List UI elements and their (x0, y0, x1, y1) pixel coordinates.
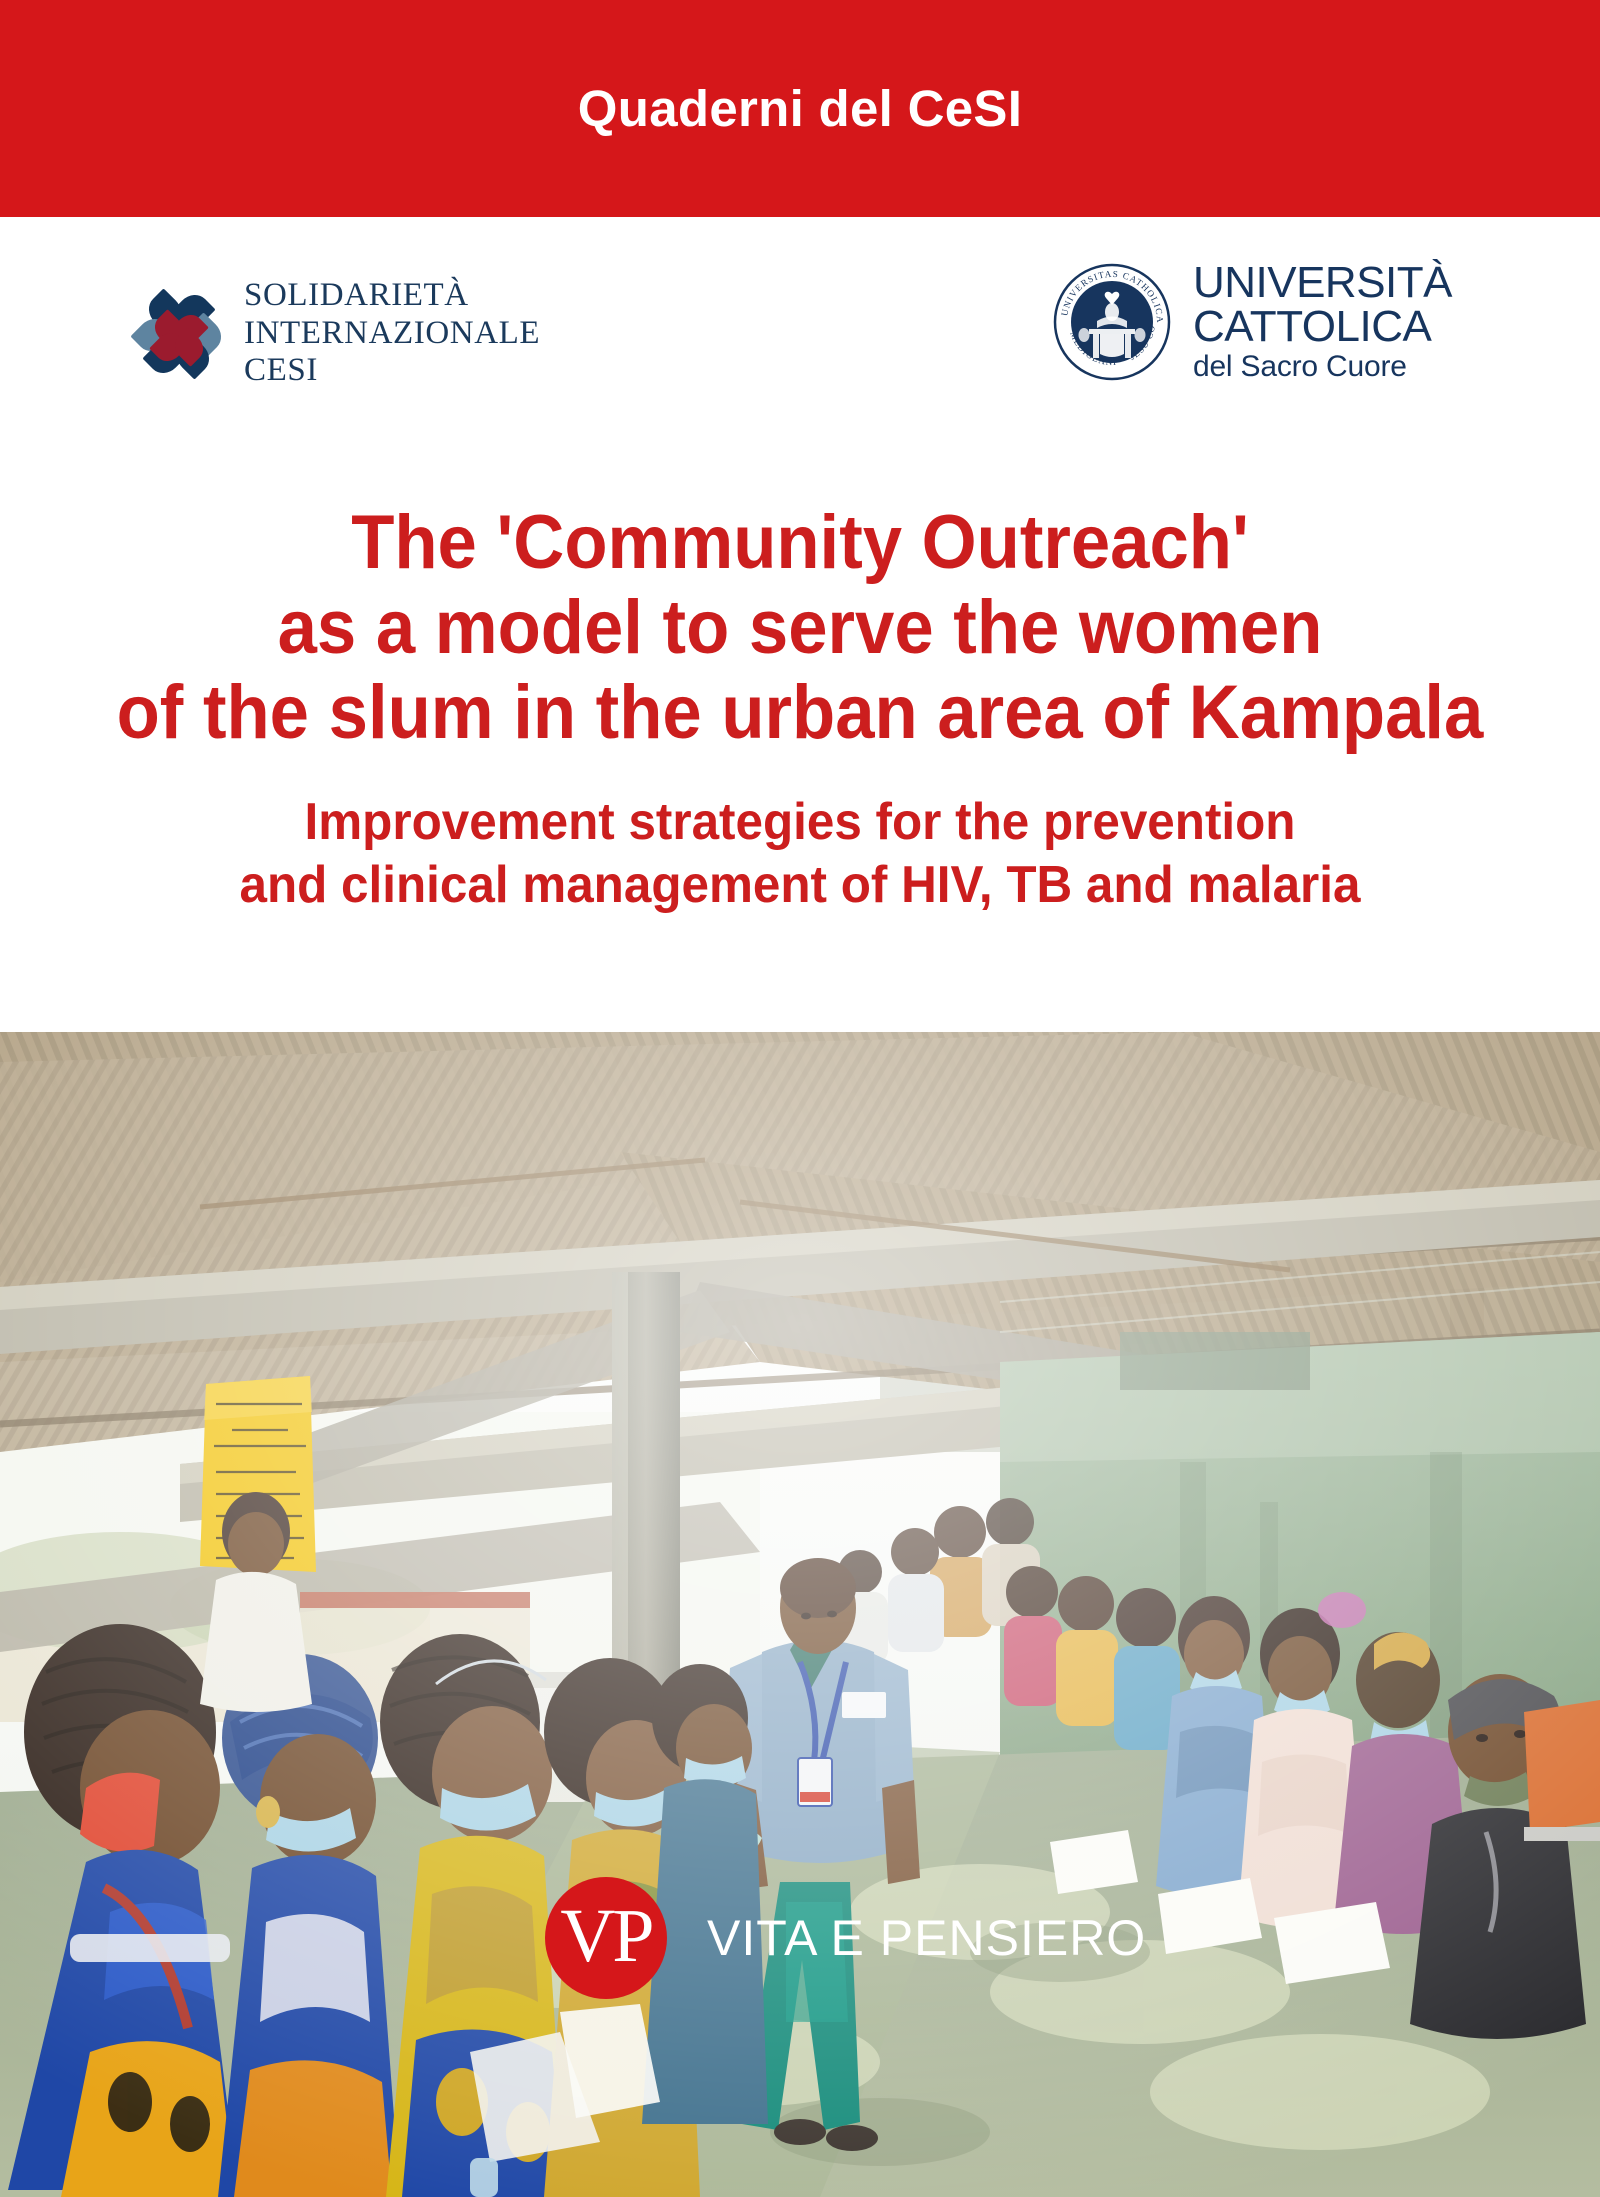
subtitle-line-1: Improvement strategies for the preventio… (40, 791, 1560, 853)
solidarieta-internazionale-cesi-logo: SOLIDARIETÀ INTERNAZIONALE CESI (140, 277, 540, 390)
title-line-1: The 'Community Outreach' (56, 500, 1544, 585)
community-outreach-clinic-photo (0, 1032, 1600, 2197)
ucsc-line-1: UNIVERSITÀ (1193, 261, 1452, 305)
book-subtitle: Improvement strategies for the preventio… (40, 791, 1560, 916)
universita-cattolica-logo: UNIVERSITAS CATHOLICA SACRI MEDIOLANI ··… (1053, 261, 1452, 382)
subtitle-line-2: and clinical management of HIV, TB and m… (40, 854, 1560, 916)
ucsc-wordmark: UNIVERSITÀ CATTOLICA del Sacro Cuore (1193, 261, 1452, 382)
title-line-2: as a model to serve the women (56, 585, 1544, 670)
publisher-logo: VP VITA E PENSIERO (545, 1877, 1146, 1999)
cesi-line-3: CESI (244, 352, 540, 390)
series-band: Quaderni del CeSI (0, 0, 1600, 217)
cesi-flower-icon (140, 292, 218, 374)
publisher-name: VITA E PENSIERO (707, 1909, 1146, 1967)
cesi-line-1: SOLIDARIETÀ (244, 277, 540, 315)
logo-row: SOLIDARIETÀ INTERNAZIONALE CESI UNIVERSI… (0, 217, 1600, 517)
vp-monogram: VP (560, 1898, 651, 1978)
university-seal-icon: UNIVERSITAS CATHOLICA SACRI MEDIOLANI ··… (1053, 263, 1171, 381)
title-line-3: of the slum in the urban area of Kampala (56, 670, 1544, 755)
cesi-line-2: INTERNAZIONALE (244, 315, 540, 353)
vita-e-pensiero-mark-icon: VP (545, 1877, 667, 1999)
ucsc-line-3: del Sacro Cuore (1193, 352, 1452, 382)
title-block: The 'Community Outreach' as a model to s… (0, 500, 1600, 916)
ucsc-line-2: CATTOLICA (1193, 305, 1452, 349)
series-title: Quaderni del CeSI (578, 79, 1022, 138)
cesi-wordmark: SOLIDARIETÀ INTERNAZIONALE CESI (244, 277, 540, 390)
book-title: The 'Community Outreach' as a model to s… (56, 500, 1544, 755)
book-cover: Quaderni del CeSI SOLIDARIETÀ INTERNAZIO… (0, 0, 1600, 2197)
